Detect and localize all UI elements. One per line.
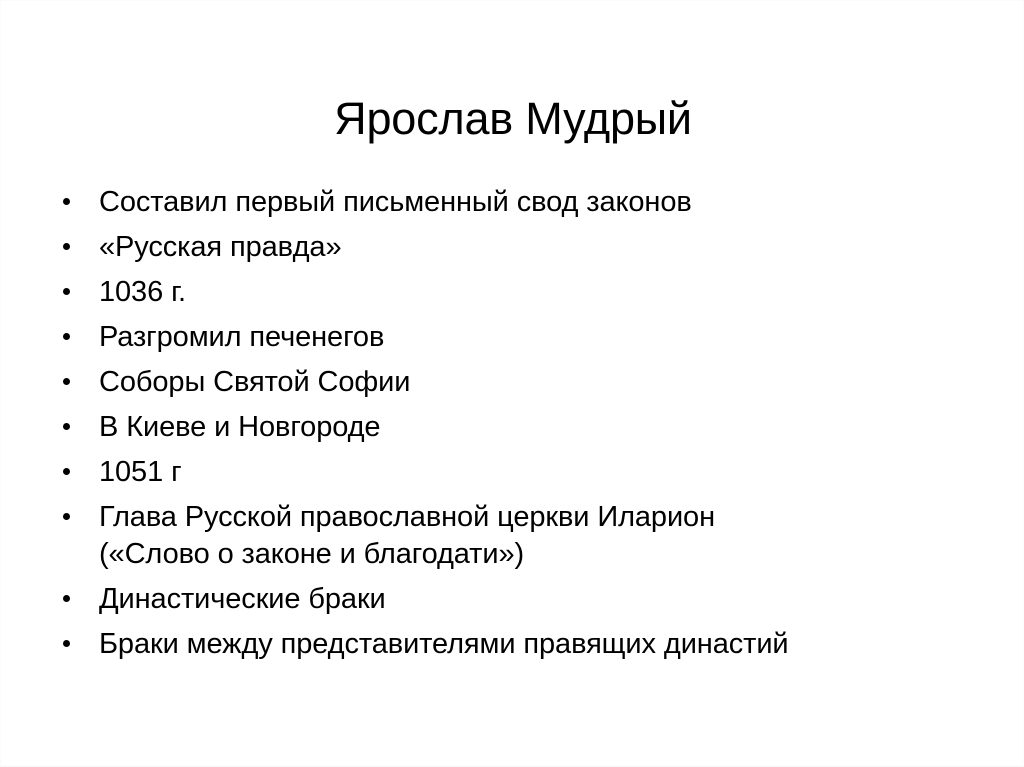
list-item: Глава Русской православной церкви Иларио… — [45, 499, 985, 573]
list-item: Династические браки — [45, 581, 985, 618]
list-item: «Русская правда» — [45, 229, 985, 266]
list-item: 1036 г. — [45, 274, 985, 311]
bullet-point-icon — [63, 333, 70, 340]
bullet-point-icon — [63, 378, 70, 385]
list-item-text: «Русская правда» — [99, 229, 985, 266]
bullet-point-icon — [63, 423, 70, 430]
list-item: Разгромил печенегов — [45, 319, 985, 356]
bullet-point-icon — [63, 513, 70, 520]
list-item: 1051 г — [45, 454, 985, 491]
list-item-text: Династические браки — [99, 581, 985, 618]
list-item: Соборы Святой Софии — [45, 364, 985, 401]
bullet-point-icon — [63, 243, 70, 250]
bullet-point-icon — [63, 640, 70, 647]
list-item-text: Глава Русской православной церкви Иларио… — [99, 499, 985, 536]
bullet-point-icon — [63, 288, 70, 295]
slide: Ярослав Мудрый Составил первый письменны… — [0, 0, 1024, 767]
list-item-text: Составил первый письменный свод законов — [99, 184, 985, 221]
list-item: В Киеве и Новгороде — [45, 409, 985, 446]
list-item: Составил первый письменный свод законов — [45, 184, 985, 221]
list-item-text: 1051 г — [99, 454, 985, 491]
page-title: Ярослав Мудрый — [1, 93, 1024, 145]
list-item-text: Разгромил печенегов — [99, 319, 985, 356]
bullet-point-icon — [63, 595, 70, 602]
list-item-text-continuation: («Слово о законе и благодати») — [99, 536, 985, 573]
bullet-point-icon — [63, 468, 70, 475]
bullet-list: Составил первый письменный свод законов … — [45, 184, 985, 663]
list-item-text: В Киеве и Новгороде — [99, 409, 985, 446]
list-item-text: Браки между представителями правящих дин… — [99, 626, 985, 663]
list-item-text: 1036 г. — [99, 274, 985, 311]
list-item-text: Соборы Святой Софии — [99, 364, 985, 401]
list-item: Браки между представителями правящих дин… — [45, 626, 985, 663]
bullet-point-icon — [63, 198, 70, 205]
